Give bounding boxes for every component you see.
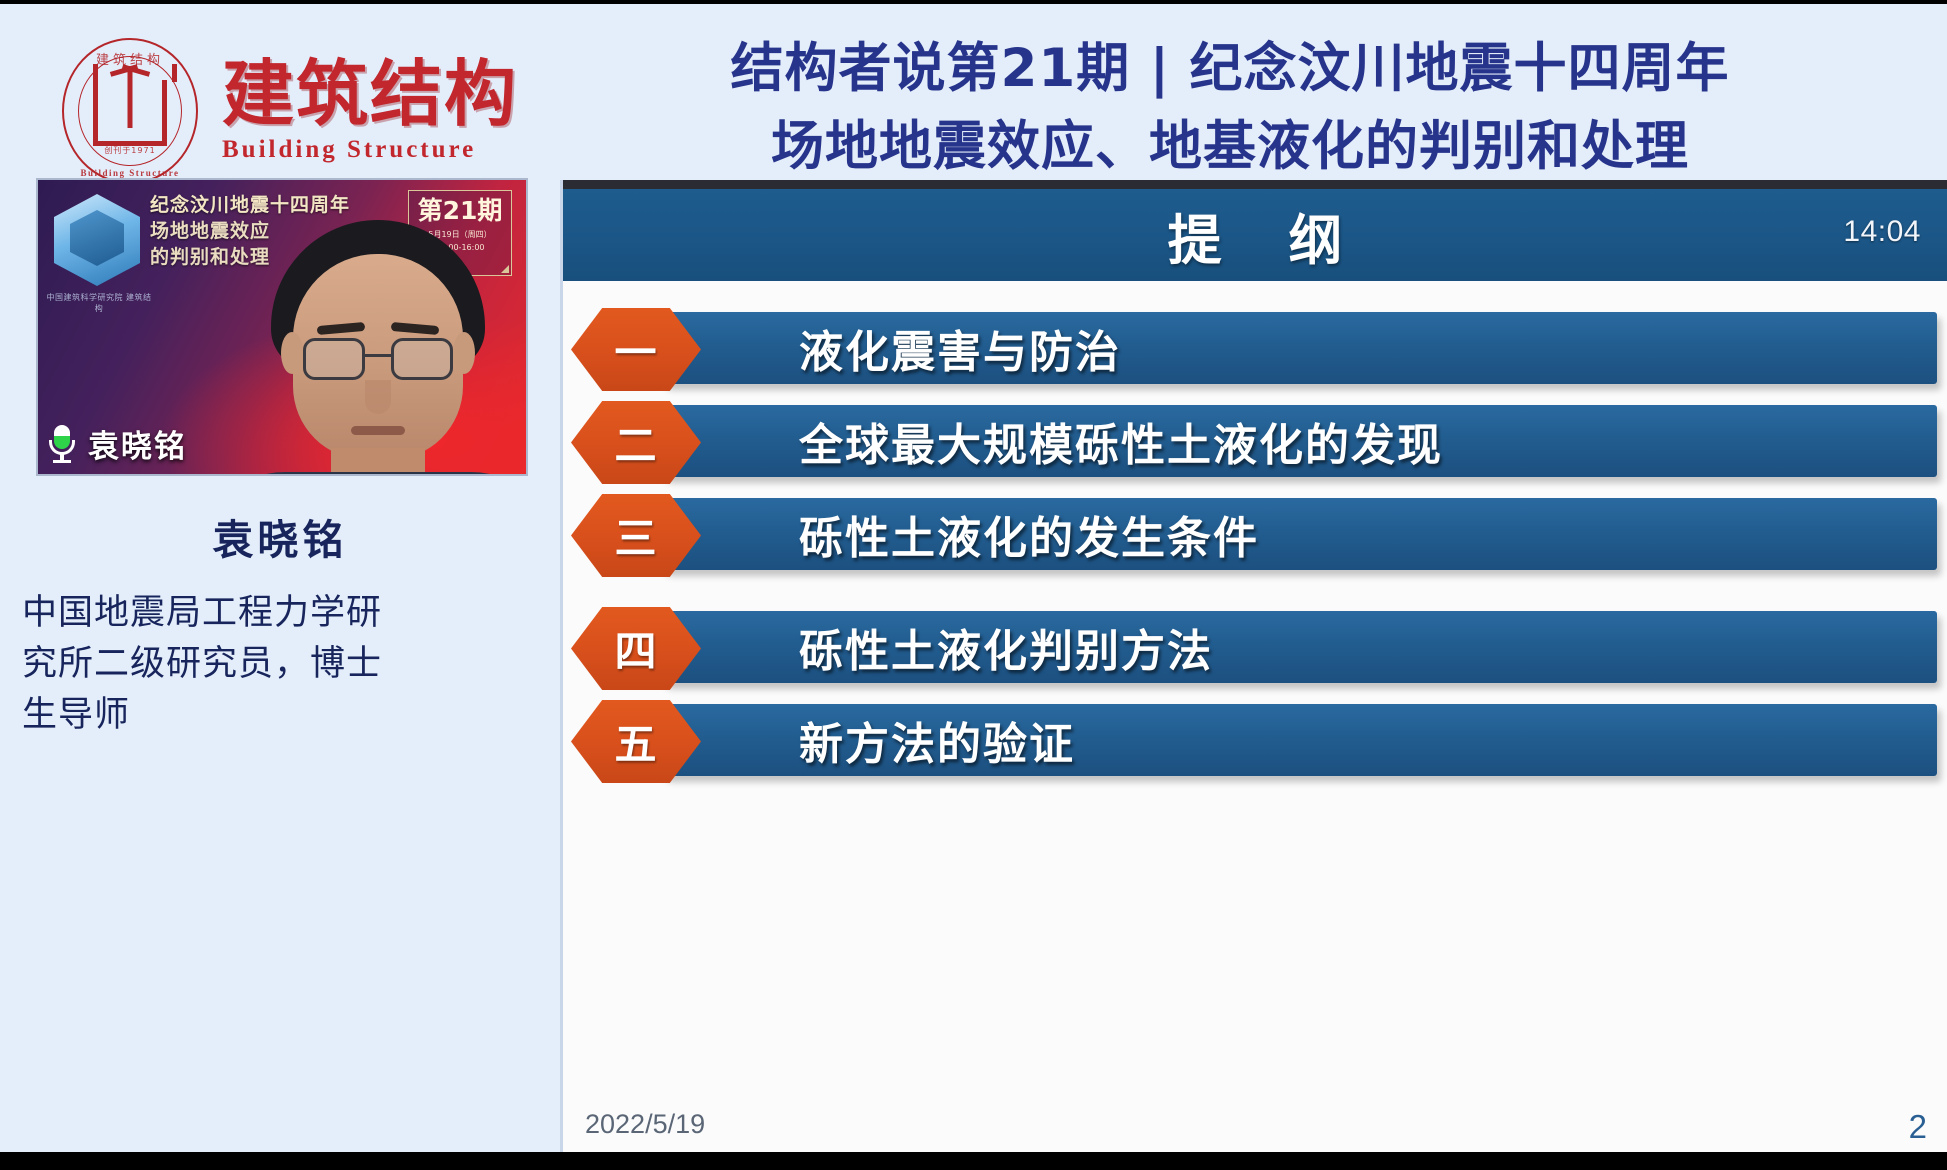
outline-item-2-bar: 全球最大规模砾性土液化的发现 [663, 405, 1937, 477]
slide-header: 提 纲 14:04 [563, 189, 1947, 281]
outline-item-1-number: 一 [614, 319, 657, 380]
presenter-panel: 中国建筑科学研究院 建筑结构 纪念汶川地震十四周年 场地地震效应 的判别和处理 … [0, 218, 560, 1166]
clock-label: 14:04 [1843, 215, 1921, 249]
participant-name-label: 袁晓铭 [88, 421, 187, 466]
outline-item-4-number: 四 [614, 618, 657, 679]
glasses-bridge [365, 354, 391, 357]
brand-name-cn: 建筑结构 [222, 58, 518, 130]
slide-page-number: 2 [1909, 1108, 1927, 1146]
outline-item-1-label: 液化震害与防治 [799, 316, 1121, 380]
outline-item-4-label: 砾性土液化判别方法 [799, 615, 1213, 679]
brand-logo: 建筑结构 创刊于1971 Building Structure 建筑结构 Bui… [60, 26, 520, 196]
seal-bottom-text: Building Structure [60, 168, 200, 178]
seal-founded-text: 创刊于1971 [60, 145, 200, 156]
outline-item-5[interactable]: 新方法的验证 五 [563, 700, 1947, 783]
top-edge-bar [0, 0, 1947, 4]
building-structure-seal-icon: 建筑结构 创刊于1971 Building Structure [60, 36, 200, 186]
presenter-bio: 中国地震局工程力学研 究所二级研究员，博士 生导师 [22, 588, 442, 741]
presenter-bio-line-2: 究所二级研究员，博士 [22, 639, 442, 690]
page-title-line-1: 结构者说第21期 | 纪念汶川地震十四周年 [520, 30, 1940, 108]
outline-item-4[interactable]: 砾性土液化判别方法 四 [563, 607, 1947, 690]
presenter-glasses-icon [303, 338, 453, 382]
outline-item-3-label: 砾性土液化的发生条件 [799, 502, 1259, 566]
outline-item-2-label: 全球最大规模砾性土液化的发现 [799, 409, 1443, 473]
mic-arc [49, 440, 75, 455]
outline-item-3-number: 三 [614, 505, 657, 566]
presenter-video-tile[interactable]: 中国建筑科学研究院 建筑结构 纪念汶川地震十四周年 场地地震效应 的判别和处理 … [36, 178, 528, 476]
outline-item-3[interactable]: 砾性土液化的发生条件 三 [563, 494, 1947, 577]
outline-item-3-bar: 砾性土液化的发生条件 [663, 498, 1937, 570]
seal-book-spine [128, 66, 133, 128]
screen-root: 建筑结构 创刊于1971 Building Structure 建筑结构 Bui… [0, 0, 1947, 1170]
presenter-bio-line-1: 中国地震局工程力学研 [22, 588, 442, 639]
outline-item-2-number: 二 [614, 412, 657, 473]
presenter-bio-line-3: 生导师 [22, 690, 442, 741]
outline-list: 液化震害与防治 一 全球最大规模砾性土液化的发现 二 砾性土液化的发生条件 [563, 308, 1947, 793]
poster-hex-logo-icon [54, 194, 140, 286]
presenter-nose [365, 380, 391, 414]
presenter-mouth [351, 426, 405, 435]
page-title: 结构者说第21期 | 纪念汶川地震十四周年 场地地震效应、地基液化的判别和处理 [520, 30, 1940, 186]
outline-item-5-label: 新方法的验证 [799, 708, 1075, 772]
presenter-ear-left [281, 332, 303, 374]
slide-top-bar [563, 180, 1947, 189]
outline-item-1[interactable]: 液化震害与防治 一 [563, 308, 1947, 391]
brand-wordmark: 建筑结构 Building Structure [222, 58, 518, 164]
outline-item-1-bar: 液化震害与防治 [663, 312, 1937, 384]
outline-item-5-number: 五 [614, 711, 657, 772]
microphone-icon[interactable] [48, 425, 76, 463]
outline-item-5-bar: 新方法的验证 [663, 704, 1937, 776]
participant-name-badge: 袁晓铭 [48, 421, 187, 466]
bottom-edge-bar [0, 1152, 1947, 1170]
mic-base [53, 460, 71, 463]
presenter-webcam-figure [253, 220, 503, 476]
glasses-lens-left [303, 338, 365, 380]
slide-header-title: 提 纲 [1144, 196, 1367, 275]
poster-logo-caption: 中国建筑科学研究院 建筑结构 [44, 292, 154, 314]
glasses-lens-right [391, 338, 453, 380]
presenter-name-heading: 袁晓铭 [0, 506, 560, 566]
page-title-line-2: 场地地震效应、地基液化的判别和处理 [520, 108, 1940, 186]
outline-item-4-bar: 砾性土液化判别方法 [663, 611, 1937, 683]
poster-title-line-1: 纪念汶川地震十四周年 [150, 192, 390, 218]
shared-slide-area[interactable]: 提 纲 14:04 液化震害与防治 一 全球最大规模砾性土液化的发现 二 [560, 180, 1947, 1152]
brand-name-en: Building Structure [222, 136, 518, 164]
slide-footer: 2022/5/19 2 [563, 1096, 1947, 1152]
presenter-ear-right [453, 332, 475, 374]
seal-book-icon [93, 80, 167, 146]
outline-item-2[interactable]: 全球最大规模砾性土液化的发现 二 [563, 401, 1947, 484]
slide-date-label: 2022/5/19 [585, 1109, 705, 1140]
